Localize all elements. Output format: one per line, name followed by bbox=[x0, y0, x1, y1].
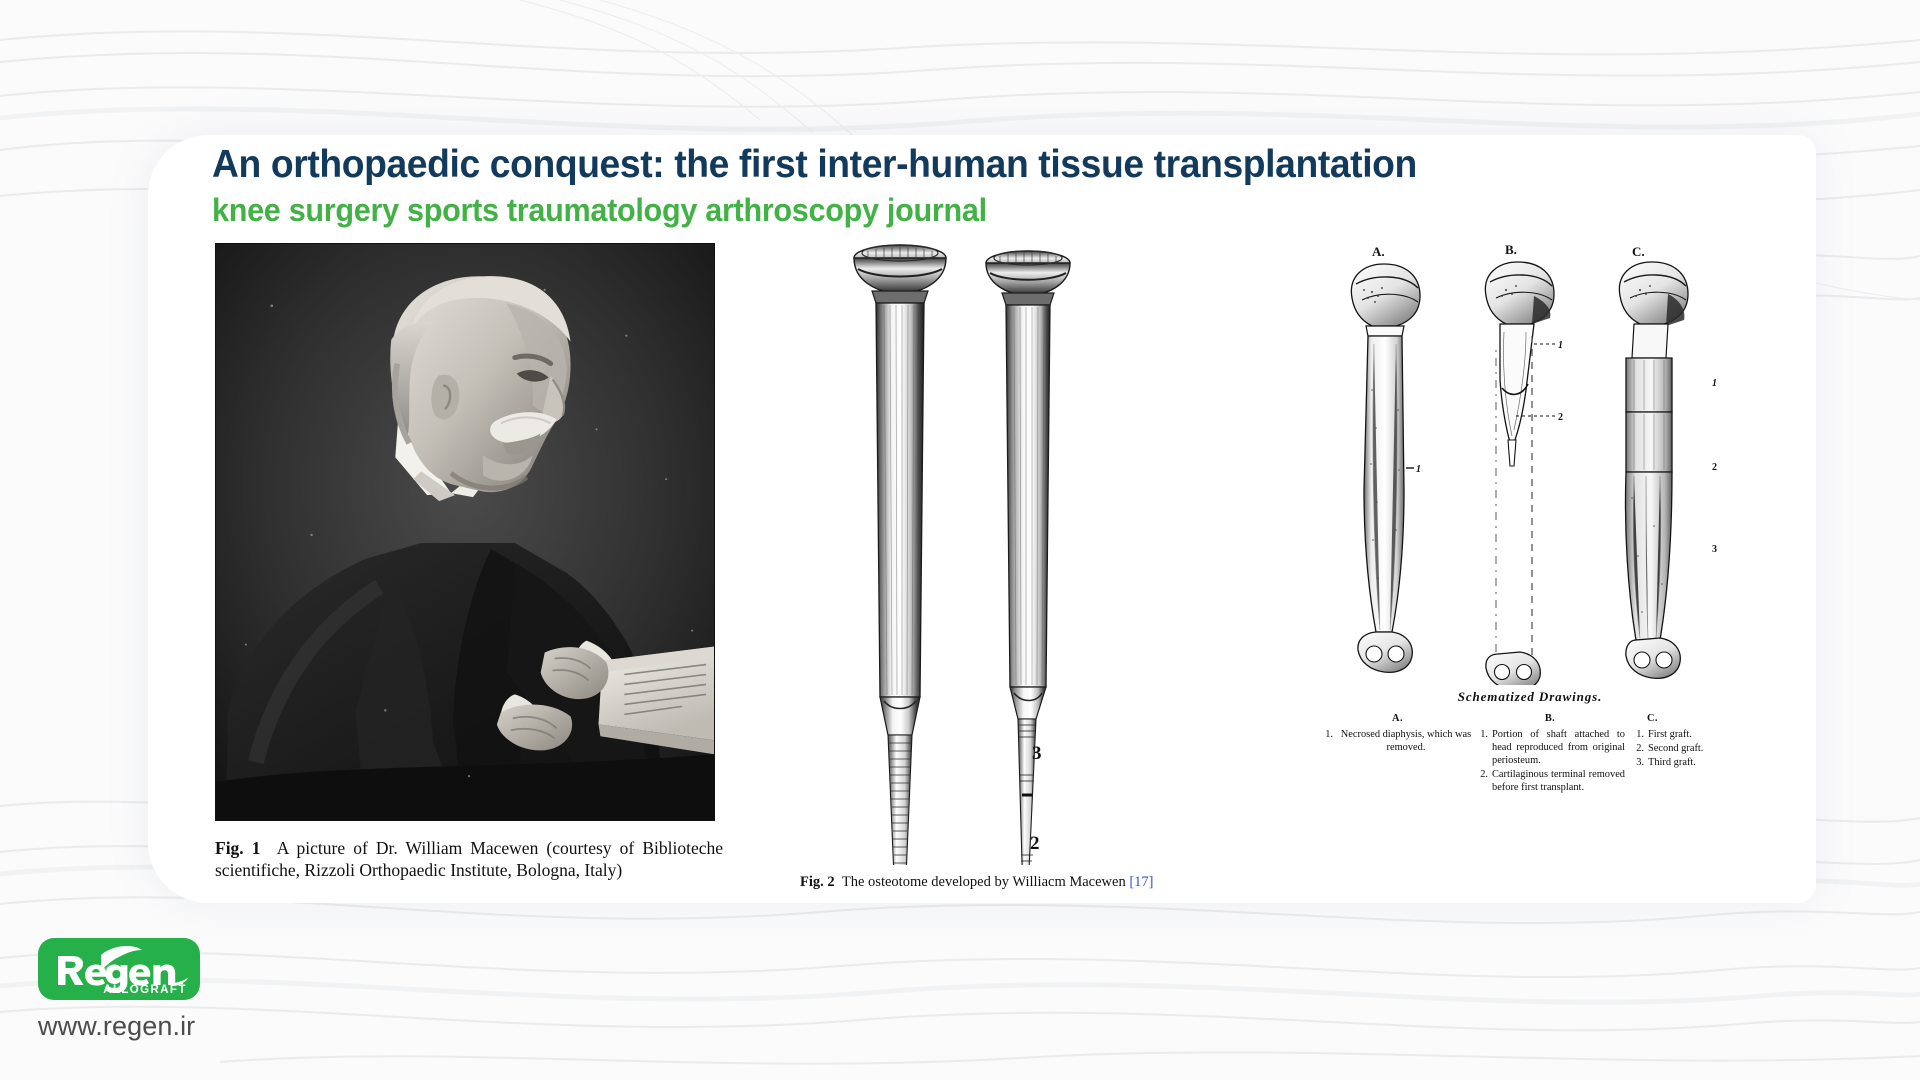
journal-subtitle: knee surgery sports traumatology arthros… bbox=[212, 191, 1568, 229]
figure-3: A. B. C. bbox=[1320, 240, 1740, 795]
legend-item-text: Third graft. bbox=[1648, 756, 1737, 769]
macewen-portrait-photo bbox=[215, 243, 715, 821]
legend-head-a: A. bbox=[1320, 712, 1475, 725]
bone-b-mark-2: 2 bbox=[1558, 412, 1563, 423]
figure-2-caption: Fig. 2 The osteotome developed by Willia… bbox=[800, 873, 1200, 892]
figure-1-caption-text: A picture of Dr. William Macewen (courte… bbox=[215, 838, 723, 880]
legend-item-number: 3. bbox=[1631, 756, 1644, 769]
brand-block[interactable]: ALLOGRAFT www.regen.ir bbox=[38, 938, 278, 1042]
legend-item-text: Portion of shaft attached to head reprod… bbox=[1492, 728, 1625, 767]
figure-1-caption: Fig. 1 A picture of Dr. William Macewen … bbox=[215, 837, 723, 881]
legend-column-b: B. 1. Portion of shaft attached to head … bbox=[1475, 712, 1625, 795]
schematized-drawings-title: Schematized Drawings. bbox=[1320, 689, 1740, 705]
legend-column-a: A. 1. Necrosed diaphysis, which was remo… bbox=[1320, 712, 1475, 795]
legend-head-b: B. bbox=[1475, 712, 1625, 725]
legend-item-text: Second graft. bbox=[1648, 742, 1737, 755]
allograft-text: ALLOGRAFT bbox=[103, 984, 187, 996]
legend-item: 2. Second graft. bbox=[1631, 742, 1737, 755]
osteotome-mark-3: 3 bbox=[1032, 743, 1042, 764]
legend-item-text: Necrosed diaphysis, which was removed. bbox=[1337, 728, 1475, 754]
bone-a: 1 bbox=[1351, 264, 1421, 672]
legend-item-text: First graft. bbox=[1648, 728, 1737, 741]
bone-c-mark-1: 1 bbox=[1712, 378, 1717, 389]
osteotome-illustration: 3 2 bbox=[800, 235, 1200, 865]
legend-item-number: 2. bbox=[1631, 742, 1644, 755]
legend-item-number: 1. bbox=[1320, 728, 1333, 754]
fig3-top-label-c: C. bbox=[1632, 244, 1645, 259]
schematized-bone-drawings: A. B. C. bbox=[1320, 240, 1740, 685]
bone-b: 1 2 bbox=[1485, 262, 1563, 685]
bone-c-mark-3: 3 bbox=[1712, 544, 1717, 555]
regen-allograft-logo[interactable]: ALLOGRAFT bbox=[38, 938, 200, 1000]
legend-item-number: 2. bbox=[1475, 768, 1488, 794]
legend-column-c: C. 1. First graft. 2. Second graft. 3. T… bbox=[1625, 712, 1737, 795]
figure-2-label: Fig. 2 bbox=[800, 874, 835, 890]
legend-item-text: Cartilaginous terminal removed before fi… bbox=[1492, 768, 1625, 794]
legend-item: 1. First graft. bbox=[1631, 728, 1737, 741]
figure-1: Fig. 1 A picture of Dr. William Macewen … bbox=[215, 243, 715, 881]
bone-a-mark-1: 1 bbox=[1416, 464, 1421, 475]
bone-c: 1 2 3 bbox=[1619, 262, 1717, 678]
figure-1-label: Fig. 1 bbox=[215, 838, 261, 858]
fig3-top-label-b: B. bbox=[1505, 242, 1517, 257]
bone-b-mark-1: 1 bbox=[1558, 340, 1563, 351]
legend-head-c: C. bbox=[1631, 712, 1737, 725]
legend-item: 3. Third graft. bbox=[1631, 756, 1737, 769]
legend-item: 2. Cartilaginous terminal removed before… bbox=[1475, 768, 1625, 794]
fig3-top-label-a: A. bbox=[1372, 244, 1385, 259]
heading-block: An orthopaedic conquest: the first inter… bbox=[212, 142, 1632, 229]
legend-item-number: 1. bbox=[1475, 728, 1488, 767]
figure-2-caption-text: The osteotome developed by Williacm Mace… bbox=[842, 874, 1126, 890]
figure-2-reference[interactable]: [17] bbox=[1129, 874, 1153, 890]
slide-canvas: An orthopaedic conquest: the first inter… bbox=[0, 0, 1920, 1080]
legend-item-number: 1. bbox=[1631, 728, 1644, 741]
figure-3-legend: A. 1. Necrosed diaphysis, which was remo… bbox=[1320, 712, 1740, 795]
bone-c-mark-2: 2 bbox=[1712, 462, 1717, 473]
legend-item: 1. Necrosed diaphysis, which was removed… bbox=[1320, 728, 1475, 754]
brand-url[interactable]: www.regen.ir bbox=[38, 1011, 278, 1042]
page-title: An orthopaedic conquest: the first inter… bbox=[212, 142, 1568, 187]
regen-wordmark: ALLOGRAFT bbox=[38, 938, 200, 1000]
legend-item: 1. Portion of shaft attached to head rep… bbox=[1475, 728, 1625, 767]
figure-2: 3 2 Fig. 2 The osteotome developed by Wi… bbox=[800, 235, 1200, 892]
osteotome-mark-2: 2 bbox=[1030, 833, 1040, 854]
